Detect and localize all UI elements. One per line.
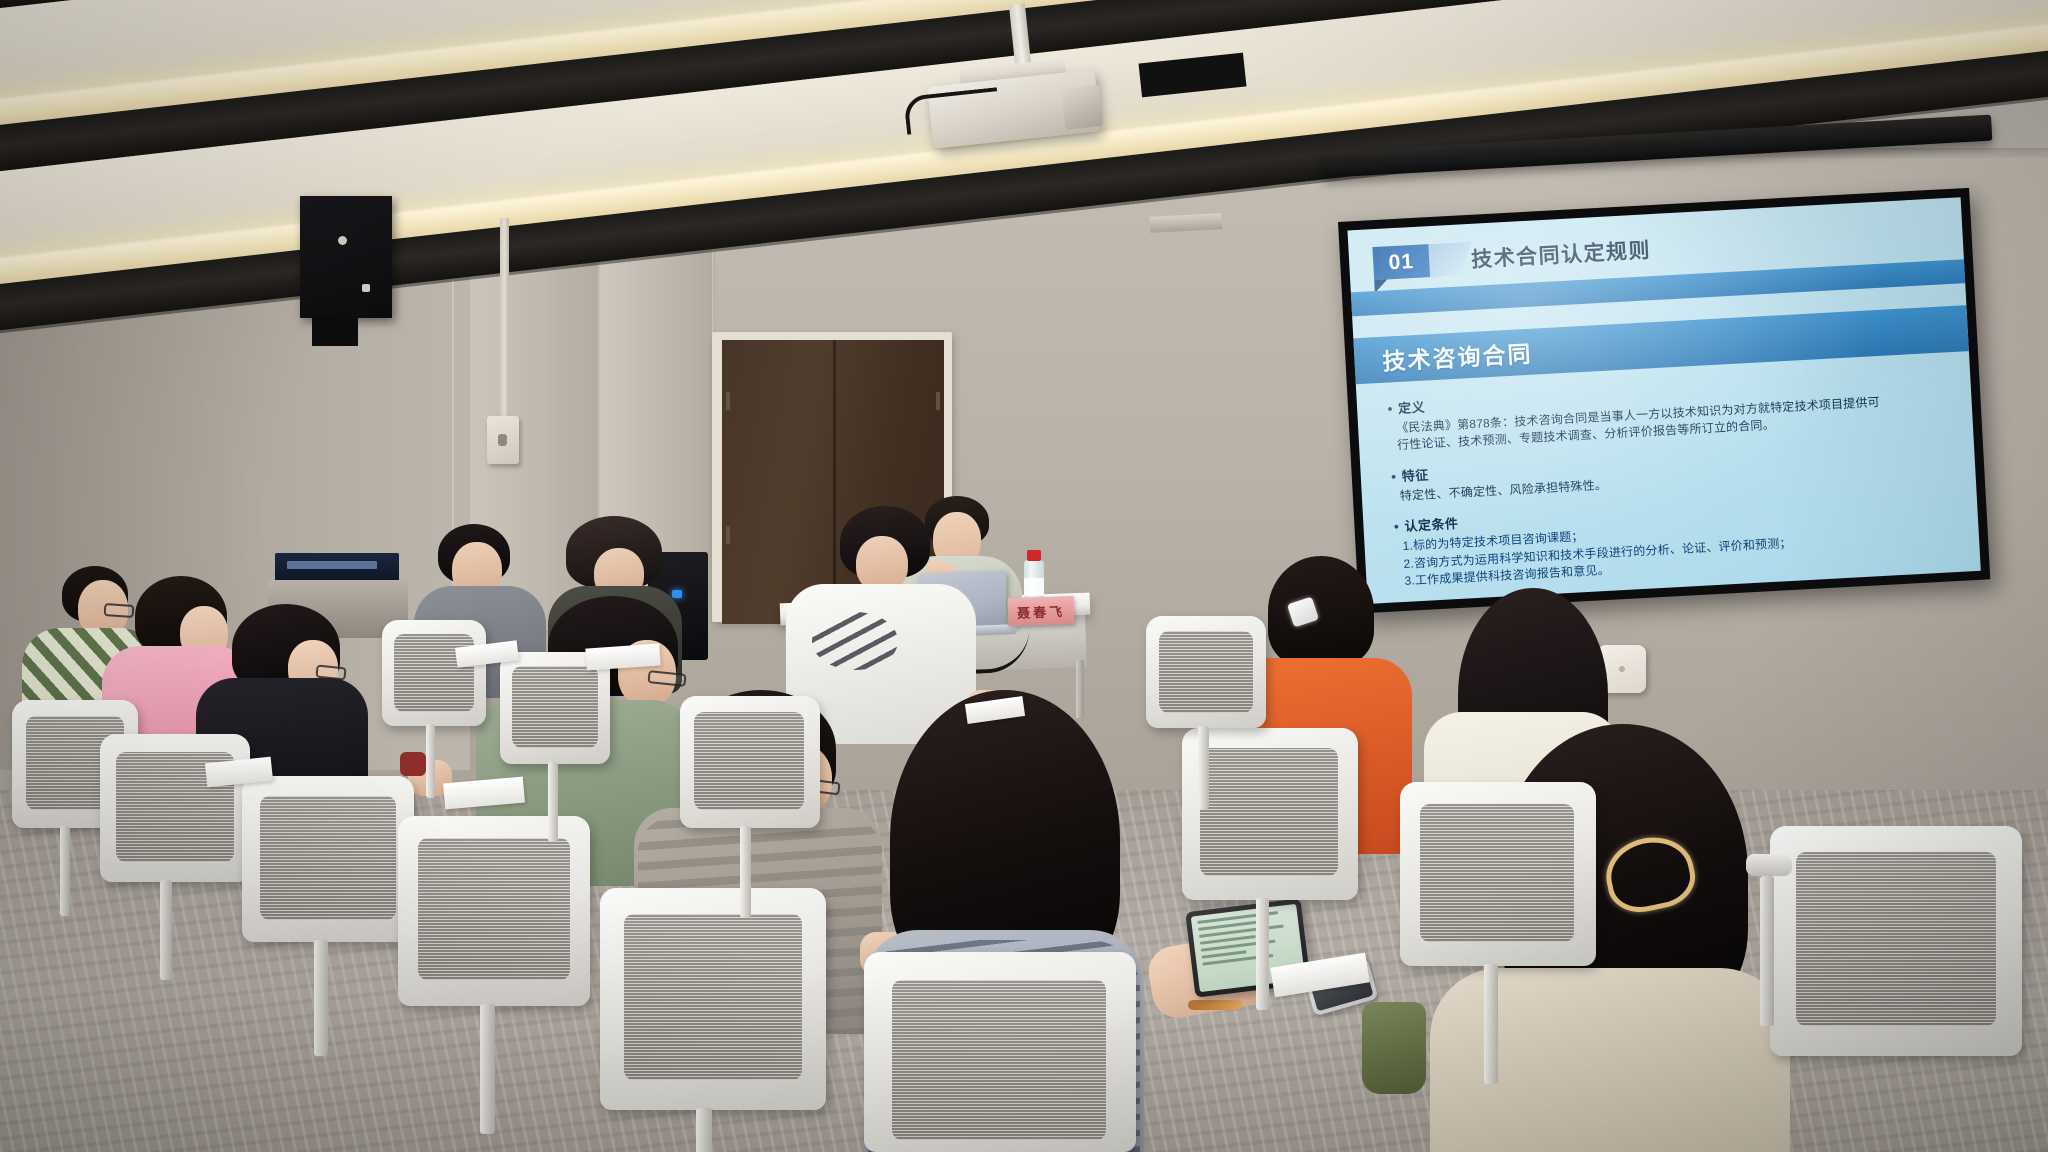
red-object — [400, 752, 426, 776]
slide-title: 技术合同认定规则 — [1470, 234, 1651, 274]
slide-badge-wing — [1428, 242, 1474, 277]
wall-speaker — [300, 196, 392, 318]
presentation-slide: 01 技术合同认定规则 技术咨询合同 定义 《民法典》第878条：技术咨询合同是… — [1347, 197, 1980, 604]
tshirt-graphic — [812, 612, 898, 670]
desk-leg — [1076, 660, 1084, 718]
slide-body: 定义 《民法典》第878条：技术咨询合同是当事人一方以技术知识为对方就特定技术项… — [1387, 368, 1959, 601]
projection-screen: 01 技术合同认定规则 技术咨询合同 定义 《民法典》第878条：技术咨询合同是… — [1338, 188, 1990, 614]
av-rack-display — [275, 553, 399, 583]
slide-badge-label: 01 — [1388, 249, 1415, 274]
cable-conduit — [500, 218, 509, 418]
green-bag — [1362, 1002, 1426, 1094]
slide-block: 认定条件 1.标的为特定技术项目咨询课题； 2.咨询方式为运用科学知识和技术手段… — [1393, 486, 1958, 590]
presenter-name-card: 聂春飞 — [1008, 596, 1075, 626]
wall-control-panel[interactable] — [487, 416, 519, 464]
glasses-icon — [104, 603, 135, 618]
projector-lens — [1061, 84, 1103, 130]
slide-section-label: 技术咨询合同 — [1382, 335, 1534, 377]
presenter-name-card-label: 聂春飞 — [1017, 601, 1066, 622]
meeting-room-photo: 01 技术合同认定规则 技术咨询合同 定义 《民法典》第878条：技术咨询合同是… — [0, 0, 2048, 1152]
bracelet — [1188, 1000, 1242, 1010]
slide-badge: 01 — [1372, 244, 1430, 280]
